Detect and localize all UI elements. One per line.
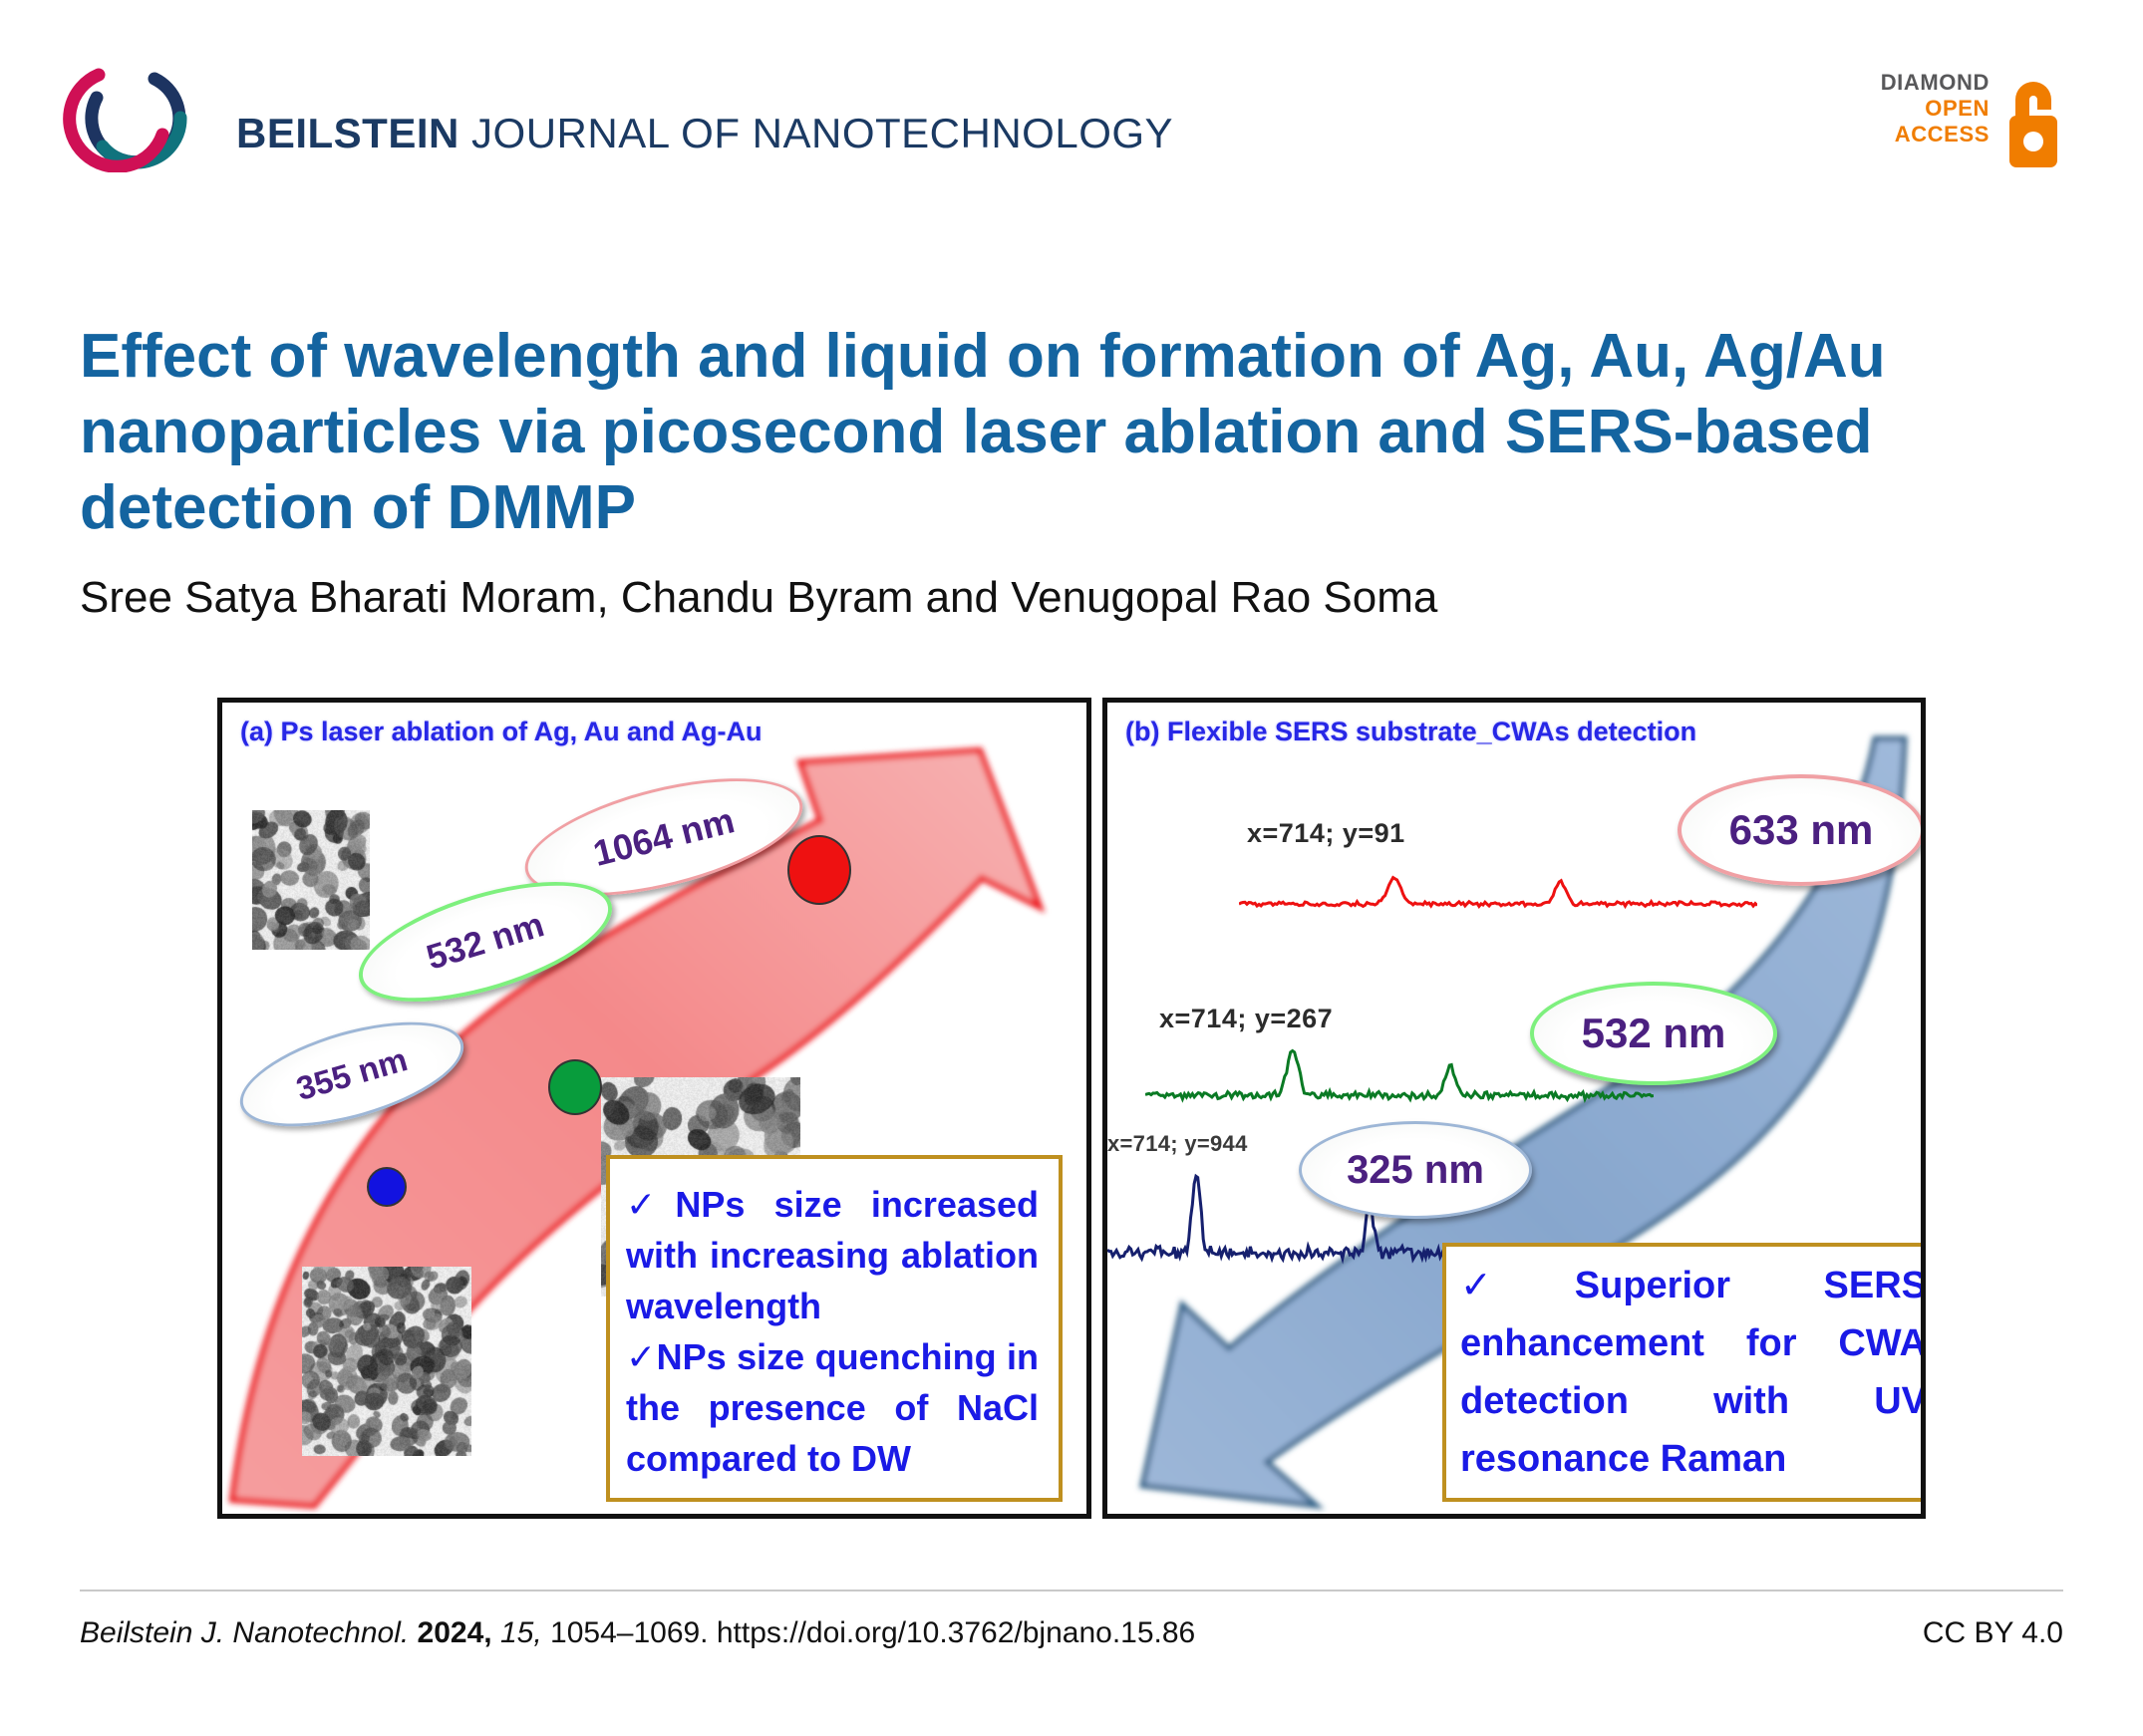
panel-a-callout: ✓NPs size increased with increasing abla… bbox=[606, 1155, 1063, 1502]
spectrum-633-annotation: x=714; y=91 bbox=[1247, 818, 1405, 849]
wavelength-bubble-355-label: 355 nm bbox=[292, 1040, 412, 1108]
open-access-text: DIAMOND OPEN ACCESS bbox=[1881, 70, 1990, 147]
panel-a-callout-bullet-1-text: NPs size increased with increasing ablat… bbox=[626, 1184, 1039, 1326]
panel-a-callout-bullet-1: ✓NPs size increased with increasing abla… bbox=[626, 1179, 1039, 1331]
panel-a-ps-laser-ablation: (a) Ps laser ablation of Ag, Au and Ag-A… bbox=[217, 698, 1091, 1519]
open-access-line-diamond: DIAMOND bbox=[1881, 70, 1990, 96]
panel-b-callout: ✓Superior SERS enhancement for CWA detec… bbox=[1442, 1243, 1926, 1502]
marker-dot-532 bbox=[548, 1059, 602, 1115]
footer-divider bbox=[80, 1590, 2063, 1591]
wavelength-bubble-633: 633 nm bbox=[1678, 774, 1925, 886]
marker-dot-355 bbox=[367, 1167, 407, 1207]
wavelength-bubble-1064-label: 1064 nm bbox=[589, 799, 739, 875]
citation-volume: 15, bbox=[500, 1616, 542, 1649]
masthead: BEILSTEIN JOURNAL OF NANOTECHNOLOGY DIAM… bbox=[0, 0, 2143, 199]
open-access-line-open: OPEN bbox=[1881, 96, 1990, 122]
spectrum-532-annotation: x=714; y=267 bbox=[1159, 1004, 1333, 1034]
wavelength-bubble-325: 325 nm bbox=[1299, 1121, 1532, 1219]
check-icon: ✓ bbox=[626, 1336, 657, 1377]
journal-name: BEILSTEIN JOURNAL OF NANOTECHNOLOGY bbox=[236, 110, 1173, 157]
wavelength-bubble-532-label: 532 nm bbox=[422, 905, 548, 979]
citation-pages-doi: 1054–1069. https://doi.org/10.3762/bjnan… bbox=[542, 1616, 1196, 1649]
license-label: CC BY 4.0 bbox=[1923, 1616, 2063, 1650]
page-title: Effect of wavelength and liquid on forma… bbox=[80, 319, 2063, 546]
open-access-line-access: ACCESS bbox=[1881, 122, 1990, 147]
wavelength-bubble-532b-label: 532 nm bbox=[1582, 1010, 1726, 1057]
wavelength-bubble-633-label: 633 nm bbox=[1729, 806, 1874, 854]
journal-name-bold: BEILSTEIN bbox=[236, 110, 459, 156]
journal-name-regular: JOURNAL OF NANOTECHNOLOGY bbox=[459, 110, 1173, 156]
tem-bottom-left bbox=[302, 1267, 471, 1456]
footer-citation: Beilstein J. Nanotechnol. 2024, 15, 1054… bbox=[80, 1616, 1195, 1650]
open-lock-icon bbox=[1995, 74, 2071, 169]
tem-top-left bbox=[252, 810, 370, 950]
check-icon: ✓ bbox=[626, 1184, 675, 1225]
panel-b-callout-bullet-1: ✓Superior SERS enhancement for CWA detec… bbox=[1460, 1257, 1926, 1488]
author-list: Sree Satya Bharati Moram, Chandu Byram a… bbox=[80, 571, 2063, 625]
citation-year: 2024, bbox=[418, 1616, 492, 1649]
beilstein-swirl-logo bbox=[63, 63, 187, 172]
check-icon: ✓ bbox=[1460, 1265, 1575, 1306]
marker-dot-1064 bbox=[787, 835, 851, 905]
spectrum-633-trace bbox=[1239, 852, 1757, 912]
diamond-open-access-badge: DIAMOND OPEN ACCESS bbox=[1872, 70, 2071, 169]
graphical-abstract: (a) Ps laser ablation of Ag, Au and Ag-A… bbox=[217, 698, 1926, 1523]
panel-a-callout-bullet-2-text: NPs size quenching in the presence of Na… bbox=[626, 1336, 1039, 1479]
citation-journal: Beilstein J. Nanotechnol. bbox=[80, 1616, 409, 1649]
wavelength-bubble-532b: 532 nm bbox=[1530, 982, 1777, 1085]
panel-a-callout-bullet-2: ✓NPs size quenching in the presence of N… bbox=[626, 1331, 1039, 1484]
wavelength-bubble-325-label: 325 nm bbox=[1347, 1148, 1484, 1193]
panel-b-flexible-sers-substrate: (b) Flexible SERS substrate_CWAs detecti… bbox=[1102, 698, 1926, 1519]
